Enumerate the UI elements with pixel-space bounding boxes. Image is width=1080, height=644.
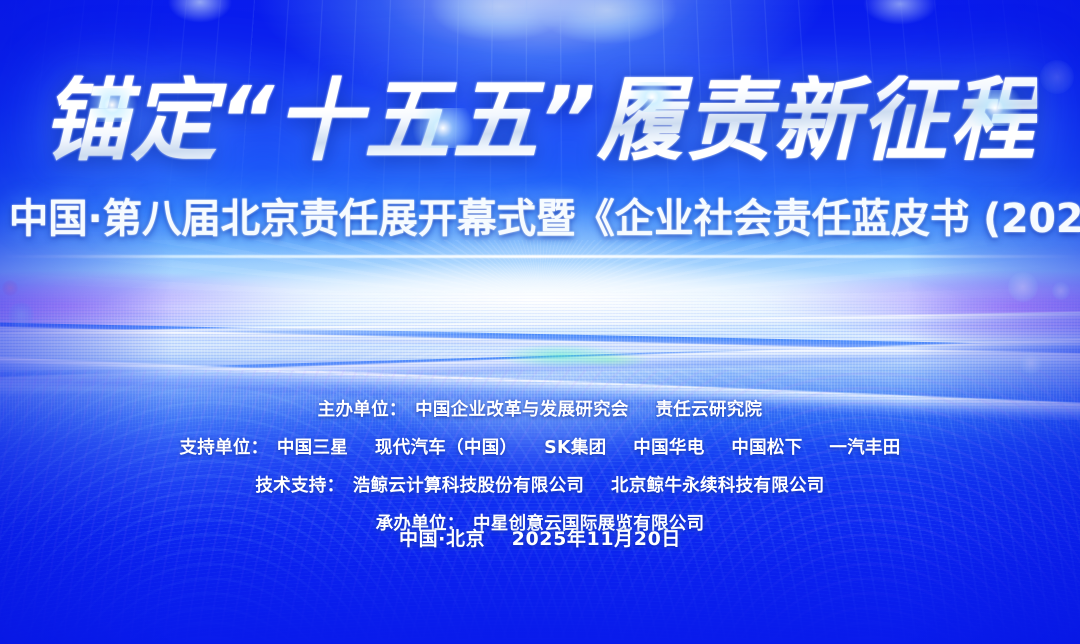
credit-label: 技术支持： [255,476,344,496]
subtitle: 中国·第八届北京责任展开幕式暨《企业社会责任蓝皮书 (2025)》 [9,198,1080,240]
credit-line-supporters: 支持单位： 中国三星 现代汽车（中国） SK集团 中国华电 中国松下 一汽丰田 [0,434,1080,459]
credit-label: 支持单位： [179,438,268,458]
poster-canvas: 锚定“十五五”履责新征程 中国·第八届北京责任展开幕式暨《企业社会责任蓝皮书 (… [0,0,1080,644]
location-text: 中国·北京 [399,528,485,550]
credit-value: 责任云研究院 [656,400,763,420]
credit-value: 中国三星 [277,438,348,458]
credit-value: 一汽丰田 [829,438,900,458]
credit-line-organizer: 主办单位： 中国企业改革与发展研究会 责任云研究院 [0,396,1080,421]
credit-value: 中国松下 [731,438,802,458]
credit-value: 中国华电 [633,438,704,458]
main-title: 锚定“十五五”履责新征程 [43,75,1038,168]
subtitle-block: 中国·第八届北京责任展开幕式暨《企业社会责任蓝皮书 (2025)》 [0,198,1080,240]
credit-value: 现代汽车（中国） [375,438,517,458]
location-date-line: 中国·北京 2025年11月20日 [0,524,1080,551]
credit-line-tech-support: 技术支持： 浩鲸云计算科技股份有限公司 北京鲸牛永续科技有限公司 [0,472,1080,497]
credit-label: 主办单位： [318,400,407,420]
credit-value: 中国企业改革与发展研究会 [415,400,629,420]
date-text: 2025年11月20日 [512,528,681,550]
main-title-block: 锚定“十五五”履责新征程 [0,78,1080,166]
credit-value: 浩鲸云计算科技股份有限公司 [353,476,584,496]
credit-value: 北京鲸牛永续科技有限公司 [611,476,825,496]
credit-value: SK集团 [544,438,606,458]
